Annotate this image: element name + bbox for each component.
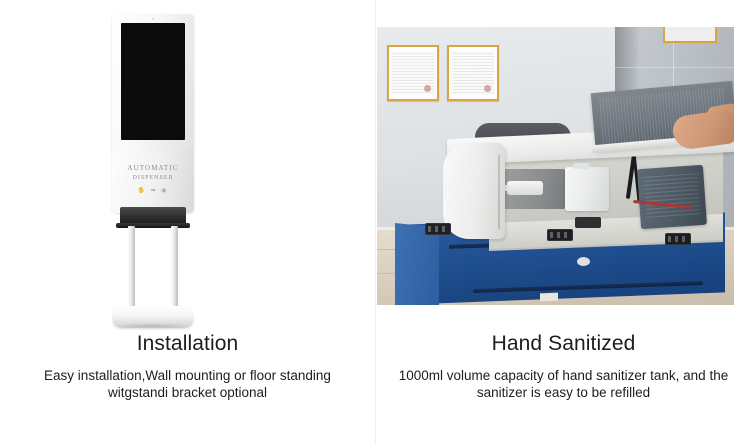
blue-panel-side-flap bbox=[395, 223, 439, 305]
installation-media-area: AUTOMATIC DISPENSER ✋ ➡ ◉ bbox=[0, 0, 375, 330]
kiosk-brand-label: AUTOMATIC DISPENSER bbox=[112, 163, 194, 183]
kiosk-screen-housing bbox=[112, 14, 194, 152]
sanitizer-tank bbox=[565, 167, 609, 211]
installation-caption: Installation Easy installation,Wall moun… bbox=[0, 332, 375, 401]
cable-tray bbox=[575, 217, 601, 228]
dispenser-kiosk-illustration: AUTOMATIC DISPENSER ✋ ➡ ◉ bbox=[105, 14, 201, 324]
kiosk-dispenser-body: AUTOMATIC DISPENSER ✋ ➡ ◉ bbox=[112, 151, 194, 213]
stand-pole-right bbox=[171, 226, 178, 314]
camera-dot-icon bbox=[152, 18, 154, 20]
battery-vent-slots bbox=[644, 173, 701, 221]
certificate-seal-icon bbox=[484, 85, 491, 92]
framed-certificate-2 bbox=[447, 45, 499, 101]
panel-label-sticker bbox=[577, 257, 590, 266]
sanitizer-tank-cap bbox=[573, 163, 589, 169]
framed-certificate-3 bbox=[663, 27, 717, 43]
kiosk-label-line1: AUTOMATIC bbox=[128, 164, 179, 172]
product-feature-panels: AUTOMATIC DISPENSER ✋ ➡ ◉ Installation E… bbox=[0, 0, 750, 444]
stand-pole-left bbox=[128, 226, 135, 314]
cabinet-seam-horizontal bbox=[615, 67, 734, 68]
kiosk-front-housing bbox=[443, 143, 505, 239]
installation-title: Installation bbox=[0, 332, 375, 355]
kiosk-interior-photograph bbox=[377, 27, 734, 305]
panel-hinge bbox=[425, 223, 451, 235]
feature-panel-installation: AUTOMATIC DISPENSER ✋ ➡ ◉ Installation E… bbox=[0, 0, 375, 444]
hand-sanitized-media-area bbox=[376, 0, 750, 330]
hinge-screws bbox=[550, 232, 570, 238]
panel-hinge bbox=[665, 233, 691, 245]
feature-panel-hand-sanitized: Hand Sanitized 1000ml volume capacity of… bbox=[375, 0, 750, 444]
hand-sanitized-title: Hand Sanitized bbox=[376, 332, 750, 355]
kiosk-housing-seam bbox=[498, 155, 500, 229]
stand-base-shadow bbox=[115, 323, 191, 329]
hand-sanitized-description: 1000ml volume capacity of hand sanitizer… bbox=[376, 367, 750, 401]
kiosk-display-screen bbox=[121, 23, 185, 140]
panel-hinge bbox=[547, 229, 573, 241]
hinge-screws bbox=[668, 236, 688, 242]
installation-description: Easy installation,Wall mounting or floor… bbox=[0, 367, 375, 401]
pump-motor bbox=[507, 181, 543, 195]
certificate-seal-icon bbox=[424, 85, 431, 92]
hand-sanitized-caption: Hand Sanitized 1000ml volume capacity of… bbox=[376, 332, 750, 401]
kiosk-label-line2: DISPENSER bbox=[112, 173, 194, 183]
kiosk-sensor-pictogram-icon: ✋ ➡ ◉ bbox=[112, 187, 194, 194]
hinge-screws bbox=[428, 226, 448, 232]
battery-pack bbox=[637, 165, 707, 229]
panel-tag-sticker bbox=[540, 293, 558, 302]
framed-certificate-1 bbox=[387, 45, 439, 101]
